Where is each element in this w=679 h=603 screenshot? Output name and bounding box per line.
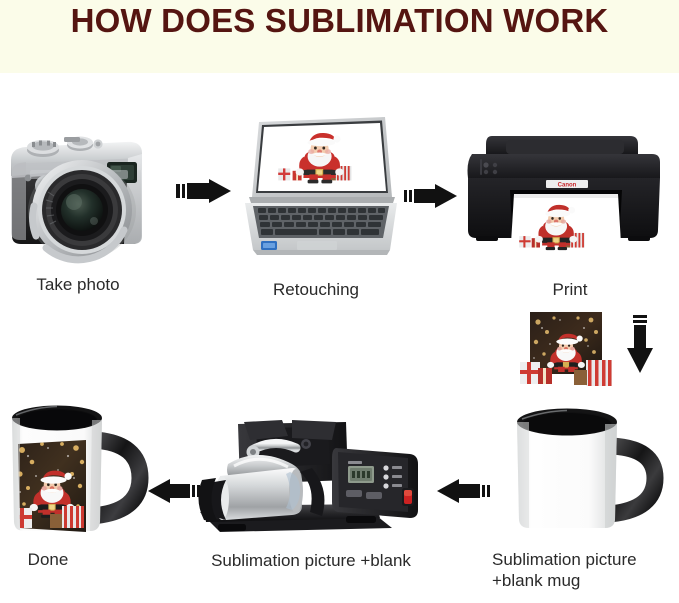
arrow-down-icon xyxy=(625,315,655,377)
camera-icon xyxy=(6,118,158,266)
arrow-left-icon xyxy=(434,478,492,504)
step-label-retouching: Retouching xyxy=(236,279,396,300)
mug-blank-icon xyxy=(495,398,667,543)
step-label-print: Print xyxy=(495,279,645,300)
step-label-sublimation-picture-blank-mug: Sublimation picture +blank mug xyxy=(492,549,678,591)
laptop-icon xyxy=(235,114,397,264)
page-title: HOW DOES SUBLIMATION WORK xyxy=(0,0,679,43)
arrow-right-icon xyxy=(176,178,234,204)
infographic-canvas: HOW DOES SUBLIMATION WORK xyxy=(0,0,679,603)
svg-text:Canon: Canon xyxy=(558,182,577,188)
sublimation-transfer-picture xyxy=(516,310,616,388)
printer-icon: Canon xyxy=(462,132,662,268)
heat-press-icon xyxy=(196,420,424,542)
arrow-right-icon xyxy=(404,183,460,209)
mug-printed-icon xyxy=(2,396,150,541)
step-label-take-photo: Take photo xyxy=(6,274,150,295)
step-label-done: Done xyxy=(2,549,94,570)
step-label-sublimation-picture-blank: Sublimation picture +blank xyxy=(180,550,442,571)
arrow-left-icon xyxy=(146,478,202,504)
